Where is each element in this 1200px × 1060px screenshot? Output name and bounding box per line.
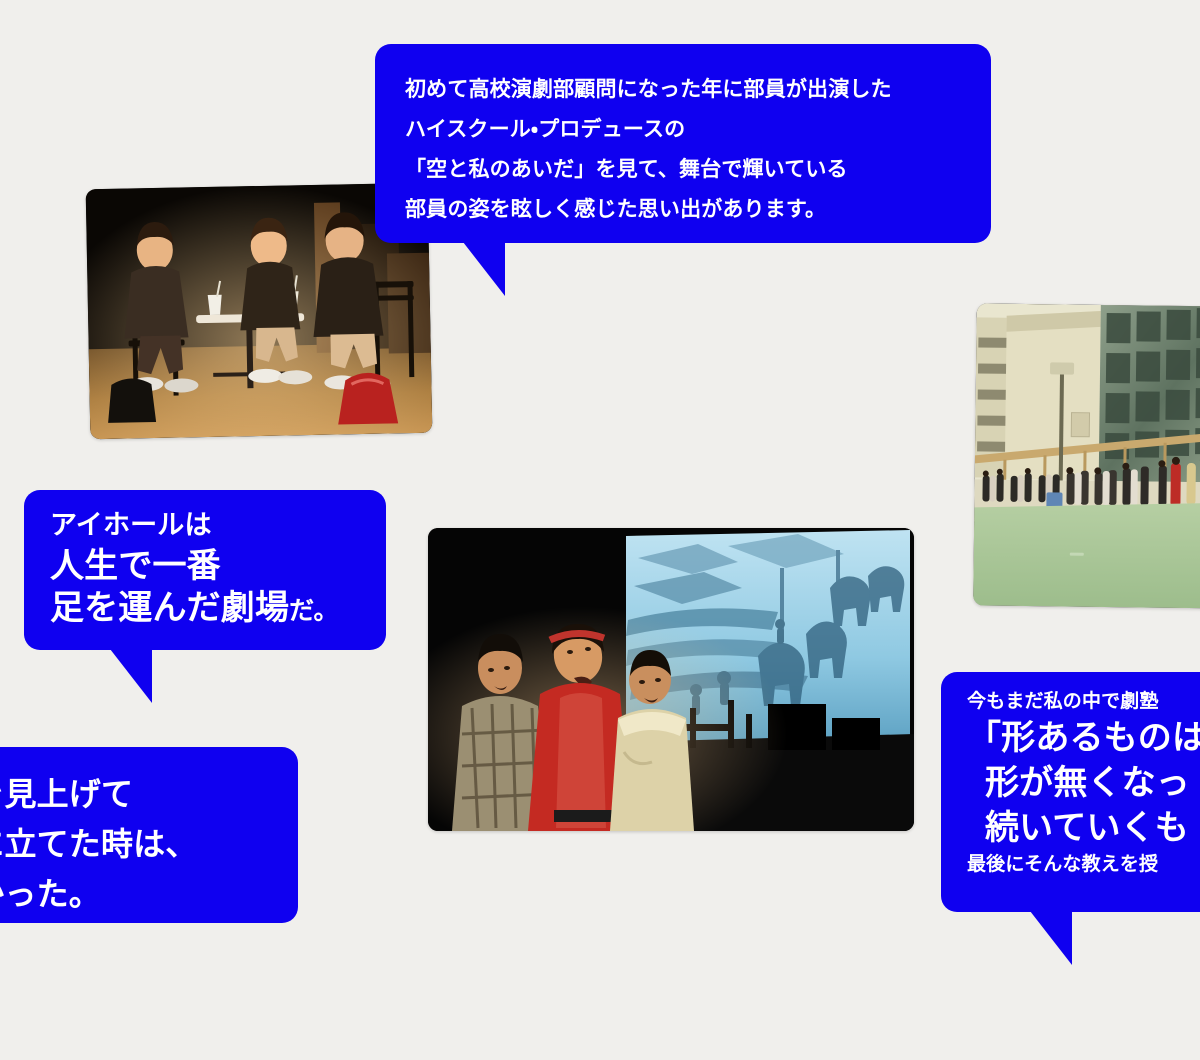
bubble-top-tail bbox=[463, 242, 505, 296]
quote-bubble-gekijuku-teaching: 今もまだ私の中で劇塾 「形あるものは 形が無くなっ 続いていくも 最後にそんな教… bbox=[941, 672, 1200, 912]
bubble-top-line-4: 部員の姿を眩しく感じた思い出があります。 bbox=[405, 190, 961, 230]
projection-trio-illustration bbox=[428, 528, 914, 831]
bubble-bl-line-2: い床に立てた時は、 bbox=[0, 819, 276, 869]
bubble-left-line-3-main: 足を運んだ劇場 bbox=[50, 589, 289, 627]
bubble-left-line-1: アイホールは bbox=[50, 506, 364, 545]
bubble-br-line-5: 最後にそんな教えを授 bbox=[967, 851, 1200, 879]
bubble-top-line-3: 「空と私のあいだ」を見て、舞台で輝いている bbox=[405, 150, 961, 190]
bubble-br-line-3: 形が無くなっ bbox=[967, 761, 1200, 806]
photo-plaza-audience-queue bbox=[973, 303, 1200, 608]
quote-bubble-ceiling-floor: 天井を見上げて い床に立てた時は、 れしかった。 bbox=[0, 747, 298, 923]
bubble-bl-line-3: れしかった。 bbox=[0, 869, 276, 919]
bubble-left-line-3-suffix: だ。 bbox=[289, 597, 339, 625]
bubble-top-line-1: 初めて高校演劇部顧問になった年に部員が出演した bbox=[405, 70, 961, 110]
bubble-br-line-2: 「形あるものは bbox=[967, 716, 1200, 761]
bubble-br-tail bbox=[1030, 911, 1072, 965]
bubble-left-line-2: 人生で一番 bbox=[50, 545, 364, 587]
bubble-br-line-4: 続いていくも bbox=[967, 806, 1200, 851]
plaza-queue-illustration bbox=[973, 303, 1200, 608]
collage-canvas: 初めて高校演劇部顧問になった年に部員が出演した ハイスクール・プロデュースの 「… bbox=[0, 0, 1200, 1060]
bubble-br-line-1: 今もまだ私の中で劇塾 bbox=[967, 688, 1200, 716]
quote-bubble-aihall-theatre: アイホールは 人生で一番 足を運んだ劇場だ。 bbox=[24, 490, 386, 650]
bubble-left-tail bbox=[110, 649, 152, 703]
bubble-bl-line-1: 天井を見上げて bbox=[0, 769, 276, 819]
photo-stage-three-performers-projection bbox=[428, 528, 914, 831]
bubble-top-line-2: ハイスクール・プロデュースの bbox=[405, 110, 961, 150]
quote-bubble-drama-club: 初めて高校演劇部顧問になった年に部員が出演した ハイスクール・プロデュースの 「… bbox=[375, 44, 991, 243]
bubble-left-line-3: 足を運んだ劇場だ。 bbox=[50, 587, 364, 632]
